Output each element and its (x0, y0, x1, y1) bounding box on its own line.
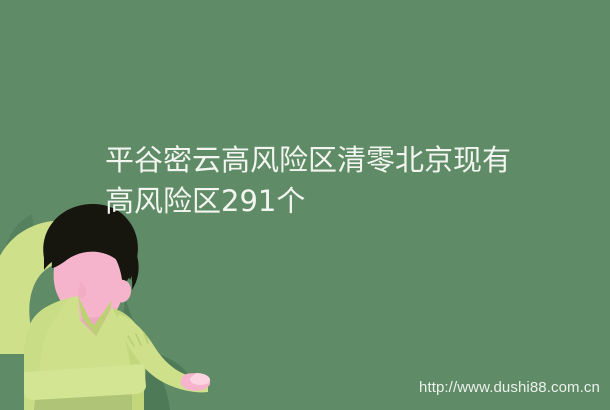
sweater (24, 296, 145, 410)
page-title: 平谷密云高风险区清零北京现有高风险区291个 (105, 140, 525, 222)
hair-fringe (52, 230, 139, 290)
sweater-hem (24, 364, 146, 400)
figure-shadow (4, 214, 192, 410)
head (54, 240, 131, 331)
hand (181, 373, 210, 391)
watermark-url: http://www.dushi88.com.cn (419, 379, 600, 397)
extended-arm (118, 314, 208, 392)
pants (34, 379, 132, 410)
raised-arm (0, 221, 86, 354)
neck (76, 316, 108, 344)
image-canvas: 平谷密云高风险区清零北京现有高风险区291个 http://www.dushi8… (0, 0, 610, 410)
person-hand-on-head-illustration (0, 196, 210, 410)
raised-sleeve (24, 298, 70, 410)
